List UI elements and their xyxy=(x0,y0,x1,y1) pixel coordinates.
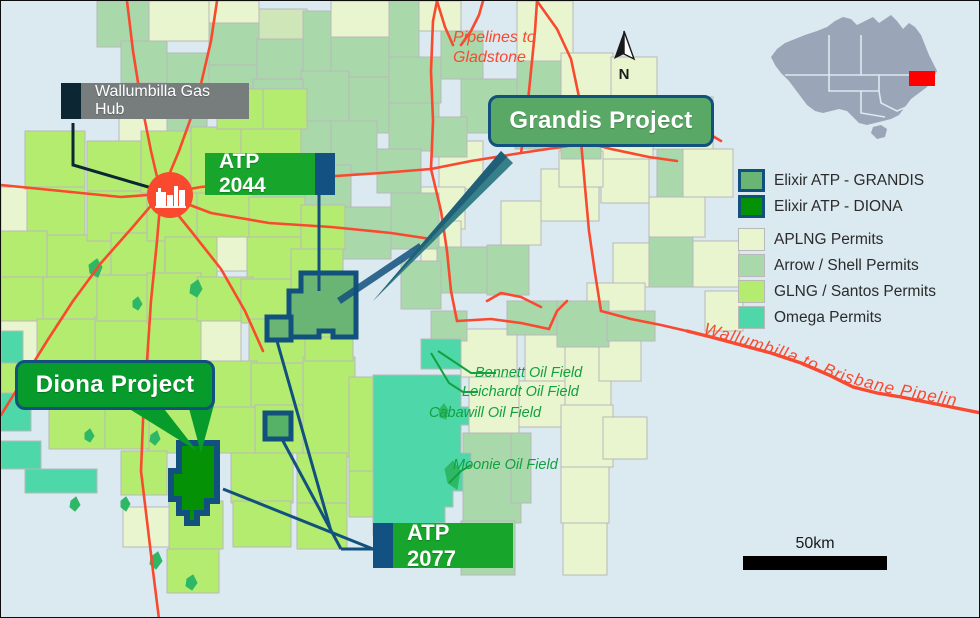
callout-diona-project[interactable]: Diona Project xyxy=(15,360,215,410)
legend-item-omega[interactable]: Omega Permits xyxy=(738,306,953,329)
legend-item-diona[interactable]: Elixir ATP - DIONA xyxy=(738,195,953,218)
legend-label-omega: Omega Permits xyxy=(774,309,882,327)
oil-field-label-bennett: Bennett Oil Field xyxy=(475,365,583,381)
north-arrow-label: N xyxy=(604,66,644,83)
scale-bar-graphic xyxy=(743,556,887,570)
strip-label-atp-2077[interactable]: ATP 2077 xyxy=(373,523,513,568)
legend-swatch-aplng xyxy=(738,228,765,251)
legend-swatch-grandis xyxy=(738,169,765,192)
scale-bar-label: 50km xyxy=(743,535,887,553)
callout-diona-label: Diona Project xyxy=(36,371,195,399)
legend-label-aplng: APLNG Permits xyxy=(774,231,883,249)
legend-divider xyxy=(738,221,953,228)
legend-label-grandis: Elixir ATP - GRANDIS xyxy=(774,172,924,190)
legend-item-glng-santos[interactable]: GLNG / Santos Permits xyxy=(738,280,953,303)
gas-hub-label-text: Wallumbilla Gas Hub xyxy=(81,83,249,119)
strip-accent-bar xyxy=(315,153,335,195)
strip-accent-bar xyxy=(373,523,393,568)
legend-item-aplng[interactable]: APLNG Permits xyxy=(738,228,953,251)
legend-swatch-arrow-shell xyxy=(738,254,765,277)
legend-swatch-diona xyxy=(738,195,765,218)
strip-label-gas-hub[interactable]: Wallumbilla Gas Hub xyxy=(61,83,249,119)
legend-label-arrow-shell: Arrow / Shell Permits xyxy=(774,257,919,275)
north-arrow: N xyxy=(604,29,644,83)
legend-label-glng-santos: GLNG / Santos Permits xyxy=(774,283,936,301)
callout-grandis-project[interactable]: Grandis Project xyxy=(488,95,714,147)
north-arrow-icon xyxy=(604,29,644,63)
svg-text:Gladstone: Gladstone xyxy=(453,49,526,66)
legend: Elixir ATP - GRANDIS Elixir ATP - DIONA … xyxy=(738,169,953,332)
svg-text:Pipelines to: Pipelines to xyxy=(453,29,536,46)
grandis-permit-outlier xyxy=(265,413,291,439)
legend-item-grandis[interactable]: Elixir ATP - GRANDIS xyxy=(738,169,953,192)
oil-field-label-cabawill: Cabawill Oil Field xyxy=(429,405,542,421)
map-figure: Bennett Oil Field Leichardt Oil Field Ca… xyxy=(0,0,980,618)
legend-label-diona: Elixir ATP - DIONA xyxy=(774,198,903,216)
scale-bar: 50km xyxy=(743,535,887,570)
atp-2077-label-text: ATP 2077 xyxy=(393,523,513,568)
legend-swatch-glng-santos xyxy=(738,280,765,303)
oil-field-label-leichardt: Leichardt Oil Field xyxy=(462,384,580,400)
oil-field-label-moonie: Moonie Oil Field xyxy=(453,457,559,473)
inset-location-marker xyxy=(909,71,935,86)
legend-item-arrow-shell[interactable]: Arrow / Shell Permits xyxy=(738,254,953,277)
callout-grandis-label: Grandis Project xyxy=(509,107,692,135)
atp-2044-label-text: ATP 2044 xyxy=(205,153,315,195)
australia-inset-map xyxy=(761,13,966,143)
legend-swatch-omega xyxy=(738,306,765,329)
strip-label-atp-2044[interactable]: ATP 2044 xyxy=(205,153,335,195)
wallumbilla-gas-hub-marker[interactable] xyxy=(141,166,199,224)
strip-accent-bar xyxy=(61,83,81,119)
